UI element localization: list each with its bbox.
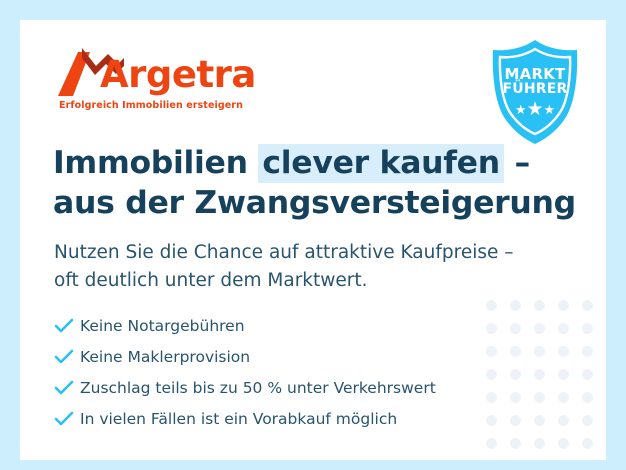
subtitle-line1: Nutzen Sie die Chance auf attraktive Kau… bbox=[54, 242, 514, 263]
headline-highlight: clever kaufen bbox=[258, 144, 503, 183]
dot bbox=[582, 300, 593, 311]
check-icon bbox=[54, 411, 80, 427]
check-icon bbox=[54, 318, 80, 334]
dot bbox=[558, 438, 569, 449]
list-item: Keine Notargebühren bbox=[54, 310, 514, 341]
list-item: In vielen Fällen ist ein Vorabkauf mögli… bbox=[54, 403, 514, 434]
dot bbox=[534, 323, 545, 334]
dot bbox=[558, 415, 569, 426]
dot bbox=[558, 323, 569, 334]
check-icon bbox=[54, 380, 80, 396]
logo-tagline: Erfolgreich Immobilien ersteigern bbox=[59, 100, 243, 111]
dot bbox=[558, 300, 569, 311]
dot bbox=[582, 323, 593, 334]
star-icon: ★ bbox=[526, 99, 543, 120]
dot bbox=[534, 300, 545, 311]
check-icon bbox=[54, 349, 80, 365]
dot bbox=[486, 438, 497, 449]
subtitle-line2: oft deutlich unter dem Marktwert. bbox=[54, 270, 368, 291]
list-item-label: Zuschlag teils bis zu 50 % unter Verkehr… bbox=[80, 379, 436, 397]
dot bbox=[558, 392, 569, 403]
star-icon: ★ bbox=[515, 102, 527, 117]
argetra-logo[interactable]: Argetra Erfolgreich Immobilien ersteiger… bbox=[56, 44, 256, 122]
dot bbox=[534, 438, 545, 449]
dot bbox=[534, 392, 545, 403]
page-subtitle: Nutzen Sie die Chance auf attraktive Kau… bbox=[54, 239, 574, 295]
headline-line1-before: Immobilien bbox=[53, 145, 258, 181]
dot bbox=[582, 438, 593, 449]
list-item-label: Keine Maklerprovision bbox=[80, 348, 250, 366]
dot bbox=[558, 369, 569, 380]
promo-card: Argetra Erfolgreich Immobilien ersteiger… bbox=[20, 20, 606, 460]
headline-line2: aus der Zwangsversteigerung bbox=[53, 185, 576, 221]
shield-badge-icon: MARKT FÜHRER ★★★ bbox=[482, 36, 588, 148]
dot bbox=[510, 438, 521, 449]
star-icon: ★ bbox=[544, 102, 556, 117]
dot bbox=[558, 346, 569, 357]
dot bbox=[582, 392, 593, 403]
dot bbox=[582, 415, 593, 426]
list-item: Keine Maklerprovision bbox=[54, 341, 514, 372]
dot bbox=[534, 346, 545, 357]
list-item-label: In vielen Fällen ist ein Vorabkauf mögli… bbox=[80, 410, 397, 428]
page-frame: Argetra Erfolgreich Immobilien ersteiger… bbox=[0, 0, 626, 470]
dot bbox=[582, 346, 593, 357]
logo-wordmark: Argetra bbox=[100, 56, 256, 93]
page-title: Immobilien clever kaufen – aus der Zwang… bbox=[53, 144, 583, 223]
dot bbox=[534, 415, 545, 426]
benefit-list: Keine Notargebühren Keine Maklerprovisio… bbox=[54, 310, 514, 434]
list-item-label: Keine Notargebühren bbox=[80, 317, 245, 335]
dot bbox=[582, 369, 593, 380]
list-item: Zuschlag teils bis zu 50 % unter Verkehr… bbox=[54, 372, 514, 403]
headline-line1-after: – bbox=[504, 145, 530, 181]
badge-line-2: FÜHRER bbox=[482, 81, 588, 97]
dot bbox=[534, 369, 545, 380]
badge-stars: ★★★ bbox=[482, 100, 588, 119]
